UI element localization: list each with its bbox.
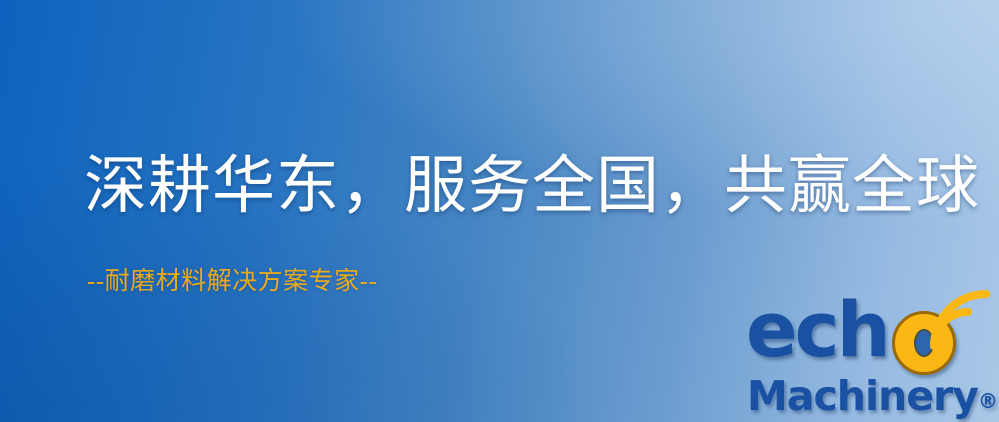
registered-trademark-icon: ® <box>978 389 998 413</box>
logo-subword-machinery: Machinery® <box>747 376 998 422</box>
signal-waves-icon <box>928 288 998 358</box>
logo-wordmark-text: ech <box>746 285 888 374</box>
banner-headline: 深耕华东，服务全国，共赢全球 <box>84 155 980 218</box>
banner-subtitle: --耐磨材料解决方案专家-- <box>87 269 377 294</box>
echo-machinery-logo: ech Machinery® <box>742 292 992 422</box>
logo-subword-text: Machinery <box>747 372 978 420</box>
logo-wordmark-ech: ech <box>746 292 888 368</box>
hero-banner: 深耕华东，服务全国，共赢全球 --耐磨材料解决方案专家-- ech Machin… <box>0 0 999 422</box>
